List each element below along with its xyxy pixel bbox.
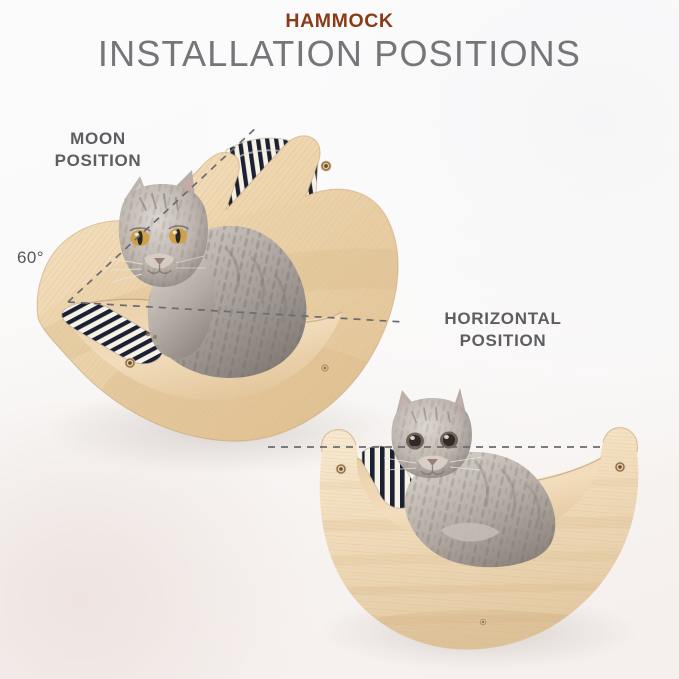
moon-hammock-screw-bottom-right bbox=[320, 363, 329, 372]
moon-hammock-screw-bottom-left bbox=[125, 358, 136, 369]
callout-moon-position: MOON POSITION bbox=[24, 128, 172, 173]
moon-hammock-screw-top-right bbox=[321, 161, 332, 172]
horizontal-hammock-screw-right bbox=[615, 462, 626, 473]
product-infographic: HAMMOCK INSTALLATION POSITIONS bbox=[0, 0, 679, 679]
cat-eye-right-2 bbox=[440, 432, 458, 449]
horizontal-hammock-screw-bottom-center bbox=[479, 618, 487, 626]
callout-moon-line2: POSITION bbox=[24, 150, 172, 172]
callout-horizontal-line1: HORIZONTAL bbox=[420, 308, 586, 330]
horizontal-hammock-screw-left bbox=[336, 464, 347, 475]
callout-moon-line1: MOON bbox=[24, 128, 172, 150]
callout-horizontal-position: HORIZONTAL POSITION bbox=[420, 308, 586, 353]
callout-horizontal-line2: POSITION bbox=[420, 330, 586, 352]
angle-label-60-degrees: 60° bbox=[17, 248, 44, 268]
